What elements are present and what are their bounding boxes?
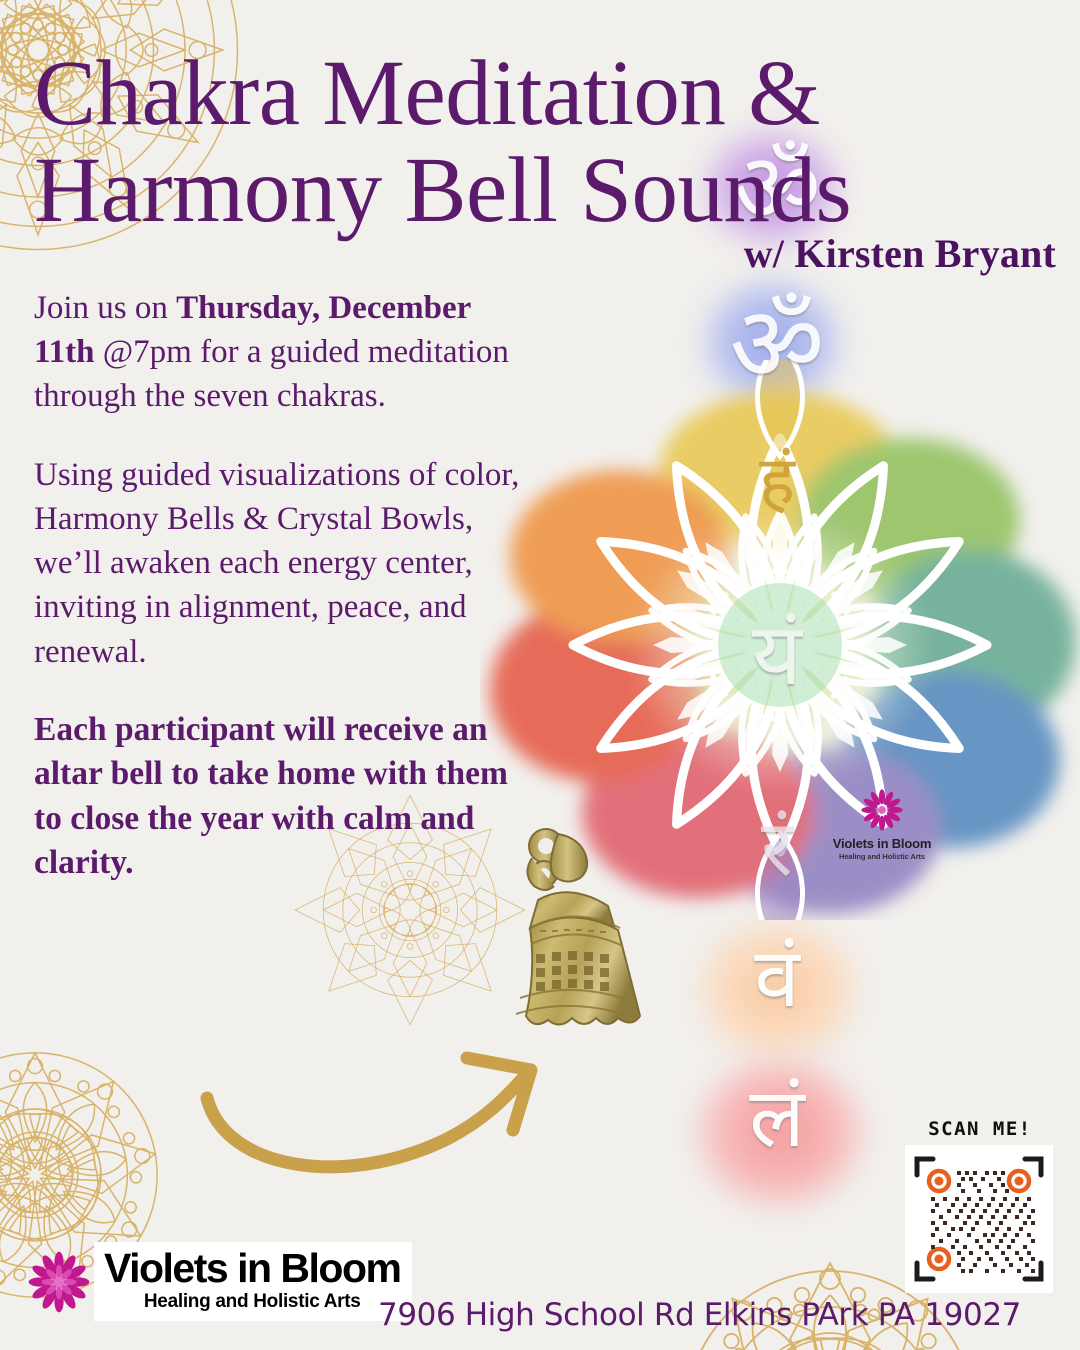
altar-bell-image <box>500 818 670 1053</box>
venue-address: 7906 High School Rd Elkins PArk PA 19027 <box>378 1297 1021 1333</box>
watermark-tagline: Healing and Holistic Arts <box>822 852 942 861</box>
footer-logo-text: Violets in Bloom Healing and Holistic Ar… <box>94 1242 412 1321</box>
p1-pre: Join us on <box>34 290 176 326</box>
title-line-1: Chakra Meditation & <box>34 48 1064 139</box>
scan-me-label: SCAN ME! <box>905 1118 1055 1140</box>
title-line-2: Harmony Bell Sounds <box>34 145 1064 236</box>
paragraph-gift: Each participant will receive an altar b… <box>34 708 534 886</box>
third-eye-chakra-om-icon: ॐ <box>722 292 832 396</box>
root-chakra-lam-icon: लं <box>718 1078 836 1160</box>
poster-title-block: Chakra Meditation & Harmony Bell Sounds … <box>34 48 1064 277</box>
paragraph-description: Using guided visualizations of color, Ha… <box>34 453 534 674</box>
paragraph-event-details: Join us on Thursday, December 11th @7pm … <box>34 286 534 419</box>
qr-code[interactable] <box>905 1145 1053 1293</box>
footer-logo: Violets in Bloom Healing and Holistic Ar… <box>28 1242 412 1321</box>
poster-canvas: ॐ ॐ हं यं रं वं लं <box>0 0 1080 1350</box>
artwork-watermark-logo: Violets in Bloom Healing and Holistic Ar… <box>822 788 942 861</box>
heart-chakra-yam-icon: यं <box>714 612 840 698</box>
p1-post: @7pm for a guided meditation through the… <box>34 334 509 414</box>
sacral-chakra-vam-icon: वं <box>718 938 836 1020</box>
solar-plexus-chakra-ram-icon: रं <box>718 810 836 888</box>
footer-logo-name: Violets in Bloom <box>104 1248 400 1289</box>
qr-block[interactable]: SCAN ME! <box>905 1118 1055 1293</box>
footer-logo-tagline: Healing and Holistic Arts <box>104 1291 400 1313</box>
violets-flower-icon <box>28 1251 90 1313</box>
watermark-name: Violets in Bloom <box>822 837 942 851</box>
violets-flower-icon <box>857 788 907 832</box>
body-copy: Join us on Thursday, December 11th @7pm … <box>34 286 534 920</box>
throat-chakra-ham-icon: हं <box>722 448 832 516</box>
